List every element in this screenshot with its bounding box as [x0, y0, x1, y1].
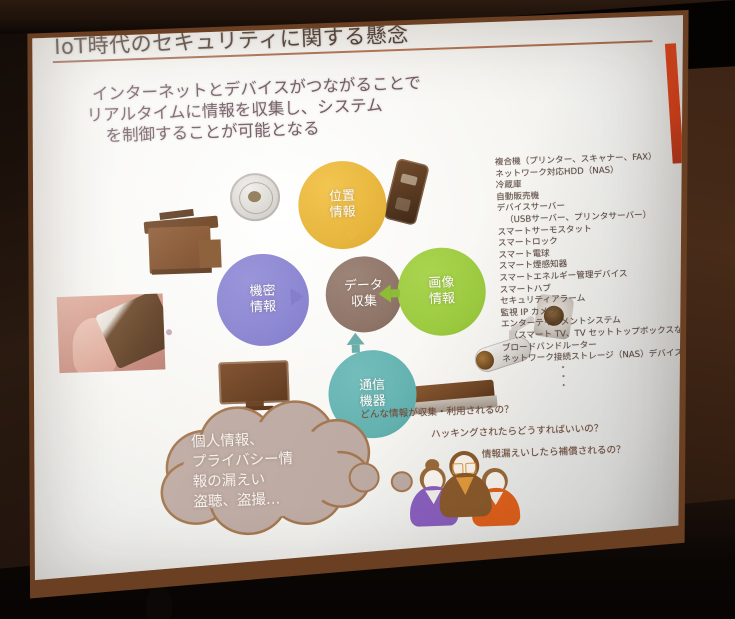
slide-subtitle: インターネットとデバイスがつながることで リアルタイムに情報を収集し、システム … — [92, 72, 424, 146]
hand-holding-smartphone-photo — [57, 293, 166, 373]
glasses-icon — [452, 463, 476, 473]
diagram-center-line-2: 収集 — [351, 294, 378, 311]
father-figure — [438, 450, 492, 514]
diagram-node-confidential-line-1: 機密 — [249, 283, 276, 300]
diagram-center-line-1: データ — [344, 278, 384, 295]
foreground-object — [146, 585, 172, 619]
copier-tray — [199, 239, 222, 268]
copier-base — [152, 268, 212, 275]
device-list: 複合機（プリンター、スキャナー、FAX）ネットワーク対応HDD（NAS）冷蔵庫自… — [495, 151, 689, 394]
diagram-node-image: 画像 情報 — [396, 246, 487, 337]
tv-panel — [218, 360, 290, 404]
thought-cloud: 個人情報、 プライバシー情 報の漏えい 盗聴、盗撮… — [160, 400, 375, 537]
arrow-down-icon — [342, 228, 360, 241]
arrow-up-icon — [346, 332, 364, 345]
photo-scene: IoT時代のセキュリティに関する懸念 インターネットとデバイスがつながることで … — [0, 0, 735, 619]
copier-printer-icon — [141, 203, 226, 276]
arrow-right-icon — [290, 288, 303, 306]
projected-slide: IoT時代のセキュリティに関する懸念 インターネットとデバイスがつながることで … — [27, 14, 689, 594]
diagram-node-communication-line-1: 通信 — [359, 378, 386, 395]
arrow-left-icon — [378, 284, 391, 302]
slide-accent-bar — [665, 43, 684, 163]
slide-content-plane: IoT時代のセキュリティに関する懸念 インターネットとデバイスがつながることで … — [27, 14, 689, 594]
thought-bubble-large — [350, 464, 378, 491]
diagram-node-image-line-1: 画像 — [428, 275, 455, 292]
diagram-node-location-line-1: 位置 — [329, 189, 356, 206]
diagram-node-location-line-2: 情報 — [329, 205, 356, 222]
robot-vacuum-icon — [229, 172, 281, 222]
diagram-node-confidential-line-2: 情報 — [250, 299, 277, 316]
diagram-node-image-line-2: 情報 — [429, 291, 456, 308]
question-2: ハッキングされたらどうすればいいの？ — [431, 420, 604, 440]
smartphone-icon — [383, 158, 430, 226]
cloud-text: 個人情報、 プライバシー情 報の漏えい 盗聴、盗撮… — [191, 427, 344, 512]
family-illustration — [408, 449, 531, 529]
decorative-dot — [166, 329, 172, 335]
